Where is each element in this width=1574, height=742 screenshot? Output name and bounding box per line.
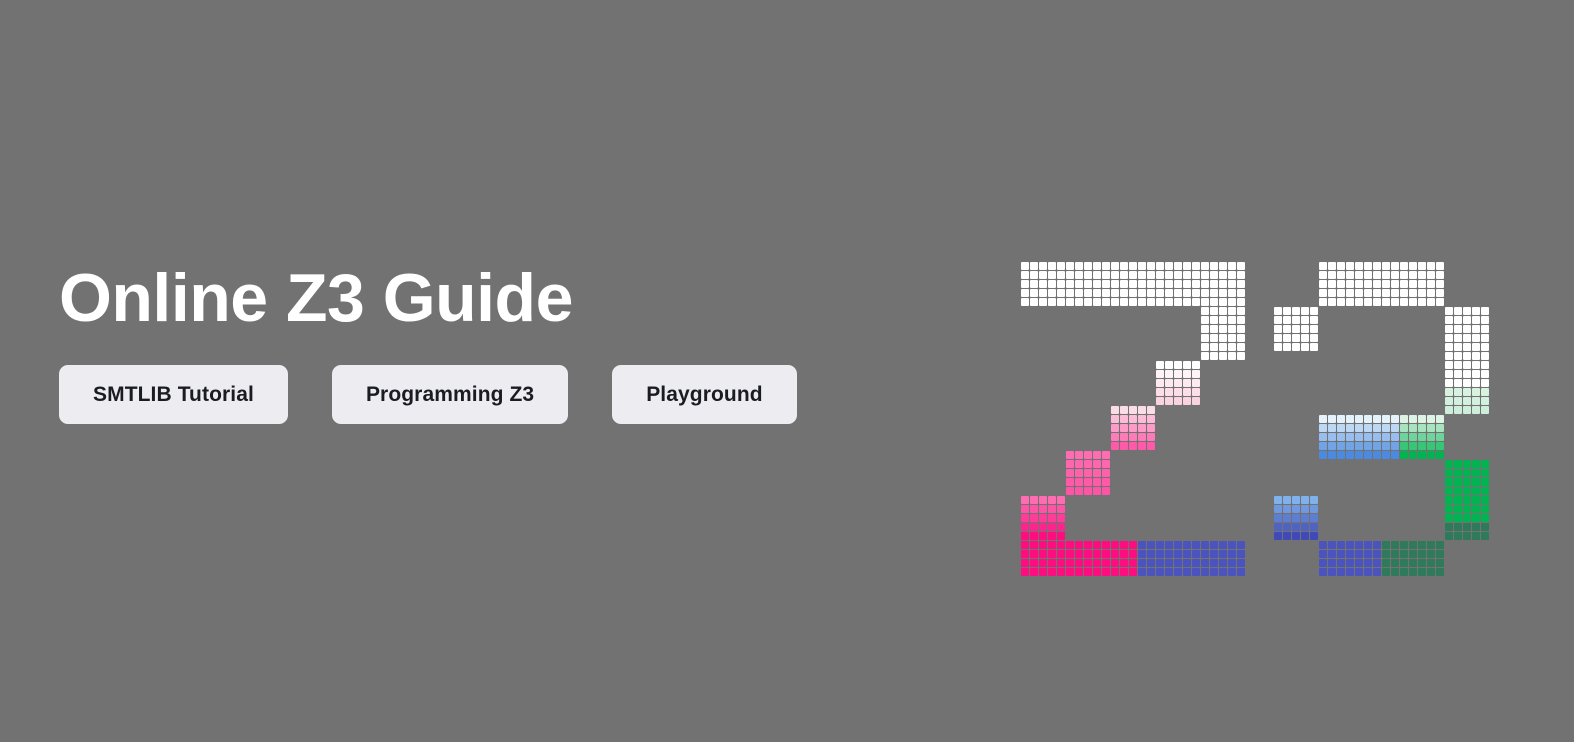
logo-pixel [1093, 262, 1101, 270]
logo-pixel [1138, 424, 1146, 432]
logo-pixel [1463, 334, 1471, 342]
logo-pixel [1481, 325, 1489, 333]
logo-pixel [1454, 361, 1462, 369]
logo-pixel [1310, 316, 1318, 324]
logo-pixel [1328, 424, 1336, 432]
logo-pixel [1409, 559, 1417, 567]
logo-pixel [1183, 370, 1191, 378]
logo-pixel [1102, 289, 1110, 297]
logo-pixel [1210, 352, 1218, 360]
logo-pixel [1445, 361, 1453, 369]
logo-pixel [1346, 433, 1354, 441]
logo-pixel [1319, 568, 1327, 576]
logo-pixel [1454, 406, 1462, 414]
logo-pixel [1156, 550, 1164, 558]
logo-pixel [1409, 550, 1417, 558]
logo-pixel [1319, 559, 1327, 567]
logo-pixel [1346, 415, 1354, 423]
logo-pixel [1346, 298, 1354, 306]
logo-pixel [1409, 433, 1417, 441]
logo-pixel [1075, 262, 1083, 270]
logo-pixel [1075, 559, 1083, 567]
logo-pixel [1409, 262, 1417, 270]
logo-pixel [1111, 442, 1119, 450]
logo-pixel [1382, 298, 1390, 306]
logo-pixel [1472, 514, 1480, 522]
logo-pixel [1481, 343, 1489, 351]
logo-pixel [1192, 280, 1200, 288]
logo-pixel [1328, 442, 1336, 450]
logo-pixel [1237, 316, 1245, 324]
logo-pixel [1337, 442, 1345, 450]
logo-pixel [1201, 559, 1209, 567]
logo-pixel [1418, 271, 1426, 279]
logo-pixel [1436, 541, 1444, 549]
logo-pixel [1228, 307, 1236, 315]
logo-pixel [1219, 262, 1227, 270]
logo-pixel [1174, 361, 1182, 369]
logo-pixel [1481, 523, 1489, 531]
logo-pixel [1274, 307, 1282, 315]
logo-pixel [1373, 415, 1381, 423]
logo-pixel [1418, 568, 1426, 576]
logo-pixel [1174, 550, 1182, 558]
logo-pixel [1472, 379, 1480, 387]
logo-pixel [1093, 289, 1101, 297]
logo-pixel [1111, 289, 1119, 297]
logo-pixel [1355, 424, 1363, 432]
logo-pixel [1364, 559, 1372, 567]
logo-pixel [1030, 523, 1038, 531]
logo-pixel [1066, 451, 1074, 459]
logo-pixel [1066, 568, 1074, 576]
logo-pixel [1481, 388, 1489, 396]
logo-pixel [1409, 289, 1417, 297]
logo-pixel [1021, 496, 1029, 504]
logo-pixel [1355, 262, 1363, 270]
logo-pixel [1165, 541, 1173, 549]
logo-pixel [1418, 280, 1426, 288]
logo-pixel [1472, 505, 1480, 513]
logo-pixel [1156, 271, 1164, 279]
logo-pixel [1292, 334, 1300, 342]
logo-pixel [1156, 289, 1164, 297]
logo-pixel [1057, 262, 1065, 270]
logo-pixel [1156, 280, 1164, 288]
logo-pixel [1228, 316, 1236, 324]
logo-pixel [1201, 343, 1209, 351]
logo-pixel [1201, 568, 1209, 576]
logo-pixel [1463, 523, 1471, 531]
logo-pixel [1210, 307, 1218, 315]
logo-pixel [1445, 487, 1453, 495]
logo-pixel [1481, 532, 1489, 540]
logo-pixel [1400, 262, 1408, 270]
logo-pixel [1093, 460, 1101, 468]
logo-pixel [1400, 568, 1408, 576]
logo-pixel [1445, 307, 1453, 315]
logo-pixel [1174, 568, 1182, 576]
logo-pixel [1147, 442, 1155, 450]
logo-pixel [1111, 424, 1119, 432]
logo-pixel [1454, 316, 1462, 324]
logo-pixel [1228, 298, 1236, 306]
logo-pixel [1039, 505, 1047, 513]
logo-pixel [1021, 550, 1029, 558]
logo-pixel [1057, 559, 1065, 567]
logo-pixel [1183, 280, 1191, 288]
logo-pixel [1084, 298, 1092, 306]
logo-pixel [1129, 289, 1137, 297]
smtlib-tutorial-button[interactable]: SMTLIB Tutorial [59, 365, 288, 424]
logo-pixel [1364, 541, 1372, 549]
logo-pixel [1328, 568, 1336, 576]
logo-pixel [1364, 550, 1372, 558]
logo-pixel [1436, 298, 1444, 306]
logo-pixel [1093, 541, 1101, 549]
logo-pixel [1472, 478, 1480, 486]
logo-pixel [1301, 334, 1309, 342]
logo-pixel [1463, 487, 1471, 495]
logo-pixel [1030, 280, 1038, 288]
logo-pixel [1129, 415, 1137, 423]
logo-pixel [1337, 289, 1345, 297]
logo-pixel [1283, 307, 1291, 315]
logo-pixel [1237, 262, 1245, 270]
logo-pixel [1192, 379, 1200, 387]
logo-pixel [1328, 415, 1336, 423]
logo-pixel [1228, 280, 1236, 288]
logo-pixel [1481, 397, 1489, 405]
logo-pixel [1183, 271, 1191, 279]
playground-button[interactable]: Playground [612, 365, 797, 424]
logo-pixel [1463, 352, 1471, 360]
logo-pixel [1102, 280, 1110, 288]
logo-pixel [1192, 550, 1200, 558]
logo-pixel [1292, 316, 1300, 324]
logo-pixel [1337, 559, 1345, 567]
logo-pixel [1481, 361, 1489, 369]
logo-pixel [1210, 568, 1218, 576]
logo-pixel [1156, 397, 1164, 405]
logo-pixel [1373, 433, 1381, 441]
logo-pixel [1346, 541, 1354, 549]
logo-pixel [1301, 523, 1309, 531]
logo-pixel [1237, 559, 1245, 567]
logo-pixel [1445, 325, 1453, 333]
logo-pixel [1021, 271, 1029, 279]
logo-pixel [1156, 541, 1164, 549]
logo-pixel [1156, 379, 1164, 387]
logo-pixel [1075, 478, 1083, 486]
logo-pixel [1057, 541, 1065, 549]
logo-pixel [1147, 415, 1155, 423]
logo-pixel [1147, 289, 1155, 297]
logo-pixel [1174, 397, 1182, 405]
logo-pixel [1310, 514, 1318, 522]
logo-pixel [1364, 280, 1372, 288]
logo-pixel [1373, 262, 1381, 270]
logo-pixel [1066, 541, 1074, 549]
logo-pixel [1201, 541, 1209, 549]
logo-pixel [1228, 568, 1236, 576]
logo-pixel [1174, 559, 1182, 567]
logo-pixel [1472, 460, 1480, 468]
logo-pixel [1400, 415, 1408, 423]
logo-pixel [1201, 298, 1209, 306]
logo-pixel [1165, 568, 1173, 576]
logo-pixel [1129, 298, 1137, 306]
hero-content: Online Z3 Guide SMTLIB Tutorial Programm… [59, 258, 959, 424]
logo-pixel [1373, 271, 1381, 279]
logo-pixel [1283, 334, 1291, 342]
logo-pixel [1102, 451, 1110, 459]
logo-pixel [1228, 559, 1236, 567]
logo-pixel [1102, 559, 1110, 567]
logo-pixel [1283, 532, 1291, 540]
logo-pixel [1391, 271, 1399, 279]
logo-pixel [1192, 388, 1200, 396]
logo-pixel [1355, 541, 1363, 549]
logo-pixel [1427, 271, 1435, 279]
logo-pixel [1400, 550, 1408, 558]
logo-pixel [1427, 550, 1435, 558]
logo-pixel [1237, 271, 1245, 279]
logo-pixel [1436, 568, 1444, 576]
logo-pixel [1237, 568, 1245, 576]
logo-pixel [1030, 289, 1038, 297]
logo-pixel [1102, 460, 1110, 468]
logo-pixel [1111, 271, 1119, 279]
logo-pixel [1057, 298, 1065, 306]
logo-pixel [1084, 460, 1092, 468]
logo-pixel [1030, 568, 1038, 576]
logo-pixel [1156, 361, 1164, 369]
logo-pixel [1093, 469, 1101, 477]
logo-pixel [1021, 280, 1029, 288]
logo-pixel [1192, 568, 1200, 576]
logo-pixel [1283, 316, 1291, 324]
logo-pixel [1301, 496, 1309, 504]
logo-pixel [1454, 460, 1462, 468]
logo-pixel [1481, 307, 1489, 315]
logo-pixel [1075, 469, 1083, 477]
logo-pixel [1445, 316, 1453, 324]
logo-pixel [1391, 559, 1399, 567]
logo-pixel [1165, 361, 1173, 369]
logo-pixel [1039, 550, 1047, 558]
logo-pixel [1084, 478, 1092, 486]
logo-pixel [1355, 280, 1363, 288]
logo-pixel [1147, 541, 1155, 549]
logo-pixel [1346, 550, 1354, 558]
logo-pixel [1066, 460, 1074, 468]
logo-pixel [1391, 424, 1399, 432]
logo-pixel [1174, 298, 1182, 306]
logo-pixel [1463, 460, 1471, 468]
logo-pixel [1364, 298, 1372, 306]
logo-pixel [1454, 379, 1462, 387]
logo-pixel [1409, 415, 1417, 423]
logo-pixel [1427, 433, 1435, 441]
logo-pixel [1364, 415, 1372, 423]
logo-pixel [1328, 433, 1336, 441]
logo-pixel [1382, 568, 1390, 576]
logo-pixel [1409, 568, 1417, 576]
logo-pixel [1274, 505, 1282, 513]
logo-pixel [1111, 415, 1119, 423]
logo-pixel [1445, 514, 1453, 522]
logo-pixel [1111, 550, 1119, 558]
logo-pixel [1364, 289, 1372, 297]
logo-pixel [1481, 370, 1489, 378]
logo-pixel [1084, 559, 1092, 567]
logo-pixel [1337, 550, 1345, 558]
logo-pixel [1391, 280, 1399, 288]
logo-pixel [1391, 415, 1399, 423]
logo-pixel [1156, 388, 1164, 396]
logo-pixel [1373, 550, 1381, 558]
logo-pixel [1409, 271, 1417, 279]
logo-pixel [1183, 289, 1191, 297]
logo-pixel [1337, 298, 1345, 306]
logo-pixel [1156, 370, 1164, 378]
logo-pixel [1373, 568, 1381, 576]
logo-pixel [1129, 550, 1137, 558]
logo-pixel [1445, 379, 1453, 387]
logo-pixel [1454, 532, 1462, 540]
logo-pixel [1382, 280, 1390, 288]
logo-pixel [1039, 271, 1047, 279]
logo-pixel [1355, 415, 1363, 423]
logo-pixel [1192, 271, 1200, 279]
logo-pixel [1481, 460, 1489, 468]
logo-pixel [1436, 262, 1444, 270]
logo-pixel [1391, 262, 1399, 270]
logo-pixel [1346, 568, 1354, 576]
logo-pixel [1463, 370, 1471, 378]
logo-pixel [1039, 496, 1047, 504]
logo-pixel [1418, 559, 1426, 567]
logo-pixel [1310, 343, 1318, 351]
logo-pixel [1418, 415, 1426, 423]
logo-pixel [1445, 460, 1453, 468]
logo-pixel [1111, 433, 1119, 441]
logo-pixel [1201, 352, 1209, 360]
logo-pixel [1472, 370, 1480, 378]
logo-pixel [1400, 559, 1408, 567]
logo-pixel [1048, 541, 1056, 549]
logo-pixel [1301, 325, 1309, 333]
logo-pixel [1021, 568, 1029, 576]
logo-pixel [1463, 379, 1471, 387]
logo-pixel [1454, 352, 1462, 360]
logo-pixel [1472, 532, 1480, 540]
logo-pixel [1111, 262, 1119, 270]
logo-pixel [1084, 568, 1092, 576]
logo-pixel [1472, 325, 1480, 333]
logo-pixel [1454, 397, 1462, 405]
programming-z3-button[interactable]: Programming Z3 [332, 365, 568, 424]
logo-pixel [1075, 451, 1083, 459]
logo-pixel [1066, 559, 1074, 567]
logo-pixel [1472, 307, 1480, 315]
logo-pixel [1445, 523, 1453, 531]
logo-pixel [1463, 397, 1471, 405]
logo-pixel [1472, 469, 1480, 477]
logo-pixel [1436, 550, 1444, 558]
logo-pixel [1373, 442, 1381, 450]
logo-pixel [1310, 505, 1318, 513]
logo-pixel [1201, 289, 1209, 297]
logo-pixel [1192, 370, 1200, 378]
logo-pixel [1120, 559, 1128, 567]
logo-pixel [1274, 325, 1282, 333]
logo-pixel [1346, 451, 1354, 459]
logo-pixel [1030, 550, 1038, 558]
logo-pixel [1301, 532, 1309, 540]
logo-pixel [1048, 532, 1056, 540]
logo-pixel [1183, 559, 1191, 567]
logo-pixel [1030, 505, 1038, 513]
logo-pixel [1201, 271, 1209, 279]
logo-pixel [1165, 559, 1173, 567]
logo-pixel [1445, 406, 1453, 414]
logo-pixel [1228, 289, 1236, 297]
logo-pixel [1138, 289, 1146, 297]
logo-pixel [1364, 433, 1372, 441]
logo-pixel [1481, 334, 1489, 342]
logo-pixel [1292, 532, 1300, 540]
logo-pixel [1129, 262, 1137, 270]
logo-pixel [1310, 334, 1318, 342]
logo-pixel [1319, 262, 1327, 270]
logo-pixel [1057, 568, 1065, 576]
logo-pixel [1066, 487, 1074, 495]
logo-pixel [1183, 262, 1191, 270]
logo-pixel [1427, 451, 1435, 459]
logo-pixel [1346, 289, 1354, 297]
logo-pixel [1337, 433, 1345, 441]
logo-pixel [1039, 532, 1047, 540]
logo-pixel [1021, 541, 1029, 549]
logo-pixel [1472, 334, 1480, 342]
logo-pixel [1436, 424, 1444, 432]
logo-pixel [1147, 298, 1155, 306]
logo-pixel [1274, 334, 1282, 342]
logo-pixel [1436, 559, 1444, 567]
logo-pixel [1219, 289, 1227, 297]
logo-pixel [1472, 487, 1480, 495]
logo-pixel [1219, 307, 1227, 315]
logo-pixel [1427, 442, 1435, 450]
logo-pixel [1436, 442, 1444, 450]
logo-pixel [1057, 271, 1065, 279]
logo-pixel [1382, 541, 1390, 549]
logo-pixel [1301, 505, 1309, 513]
logo-pixel [1093, 559, 1101, 567]
logo-pixel [1075, 289, 1083, 297]
logo-pixel [1346, 424, 1354, 432]
logo-pixel [1201, 316, 1209, 324]
hero-button-group: SMTLIB Tutorial Programming Z3 Playgroun… [59, 365, 959, 424]
logo-pixel [1048, 280, 1056, 288]
logo-pixel [1138, 541, 1146, 549]
logo-pixel [1021, 289, 1029, 297]
logo-pixel [1057, 280, 1065, 288]
logo-pixel [1156, 262, 1164, 270]
logo-pixel [1319, 550, 1327, 558]
